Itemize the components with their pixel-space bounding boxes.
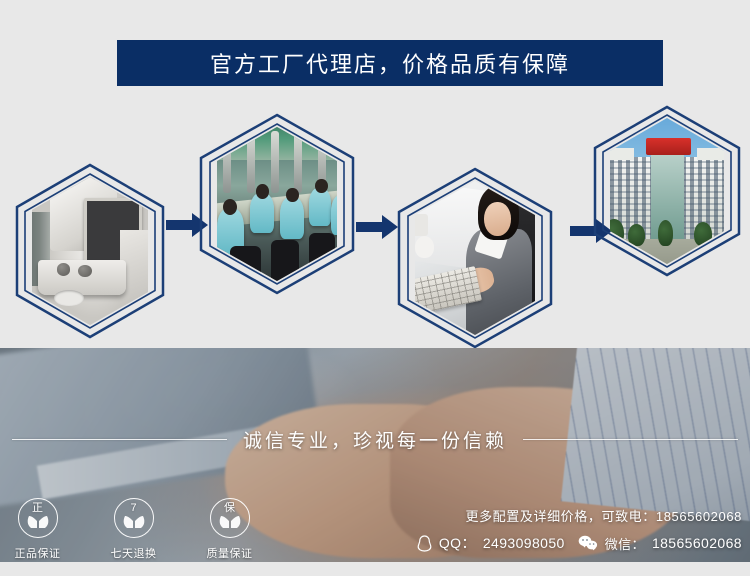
hands-icon <box>218 515 242 529</box>
badge-label: 正品保证 <box>6 545 69 561</box>
tagline-row: 诚信专业，珍视每一份信赖 <box>0 426 750 453</box>
hexagon-frame-3 <box>396 167 554 349</box>
badge-circle: 7 <box>114 498 154 538</box>
wechat-number: 18565602068 <box>652 535 742 551</box>
badge-glyph: 正 <box>19 503 57 514</box>
tagline-text: 诚信专业，珍视每一份信赖 <box>243 426 507 453</box>
badge-genuine: 正 正品保证 <box>6 498 69 561</box>
badge-circle: 正 <box>18 498 58 538</box>
service-photo <box>396 167 554 349</box>
flow-arrow-2 <box>356 215 398 244</box>
badge-return: 7 七天退换 <box>102 498 165 561</box>
arrow-right-icon <box>356 215 398 239</box>
hands-icon <box>122 515 146 529</box>
hexagon-frame-4 <box>592 105 742 277</box>
badge-quality: 保 质量保证 <box>198 498 261 561</box>
qq-number: 2493098050 <box>483 535 565 551</box>
tagline-rule-left <box>12 439 227 440</box>
im-line: QQ： 2493098050 微信： 18565602068 <box>417 533 742 553</box>
factory-photo <box>198 113 356 295</box>
wechat-icon <box>578 535 598 551</box>
hexagon-frame-1 <box>14 163 166 339</box>
hands-icon <box>26 515 50 529</box>
phone-line: 更多配置及详细价格，可致电：18565602068 <box>417 506 742 525</box>
promo-page: 官方工厂代理店，价格品质有保障 <box>0 0 750 576</box>
building-photo <box>592 105 742 277</box>
equipment-photo <box>14 163 166 339</box>
badge-glyph: 保 <box>211 503 249 514</box>
qq-penguin-icon <box>417 535 432 552</box>
contact-block: 更多配置及详细价格，可致电：18565602068 QQ： 2493098050 <box>417 506 742 553</box>
flow-step-factory <box>198 113 356 295</box>
trust-badges: 正 正品保证 7 七天退换 <box>6 498 261 561</box>
flow-step-service <box>396 167 554 349</box>
wechat-label: 微信： <box>605 534 645 553</box>
badge-label: 质量保证 <box>198 545 261 561</box>
badge-glyph: 7 <box>115 503 153 514</box>
badge-circle: 保 <box>210 498 250 538</box>
tagline-rule-right <box>523 439 738 440</box>
flow-step-equipment <box>14 163 166 339</box>
handshake-section: 诚信专业，珍视每一份信赖 正 正品保证 7 <box>0 348 750 562</box>
process-flow <box>0 95 750 335</box>
banner-title: 官方工厂代理店，价格品质有保障 <box>210 47 570 79</box>
flow-step-building <box>592 105 742 277</box>
qq-label: QQ： <box>439 533 476 553</box>
header-banner: 官方工厂代理店，价格品质有保障 <box>117 40 663 86</box>
badge-label: 七天退换 <box>102 545 165 561</box>
hexagon-frame-2 <box>198 113 356 295</box>
